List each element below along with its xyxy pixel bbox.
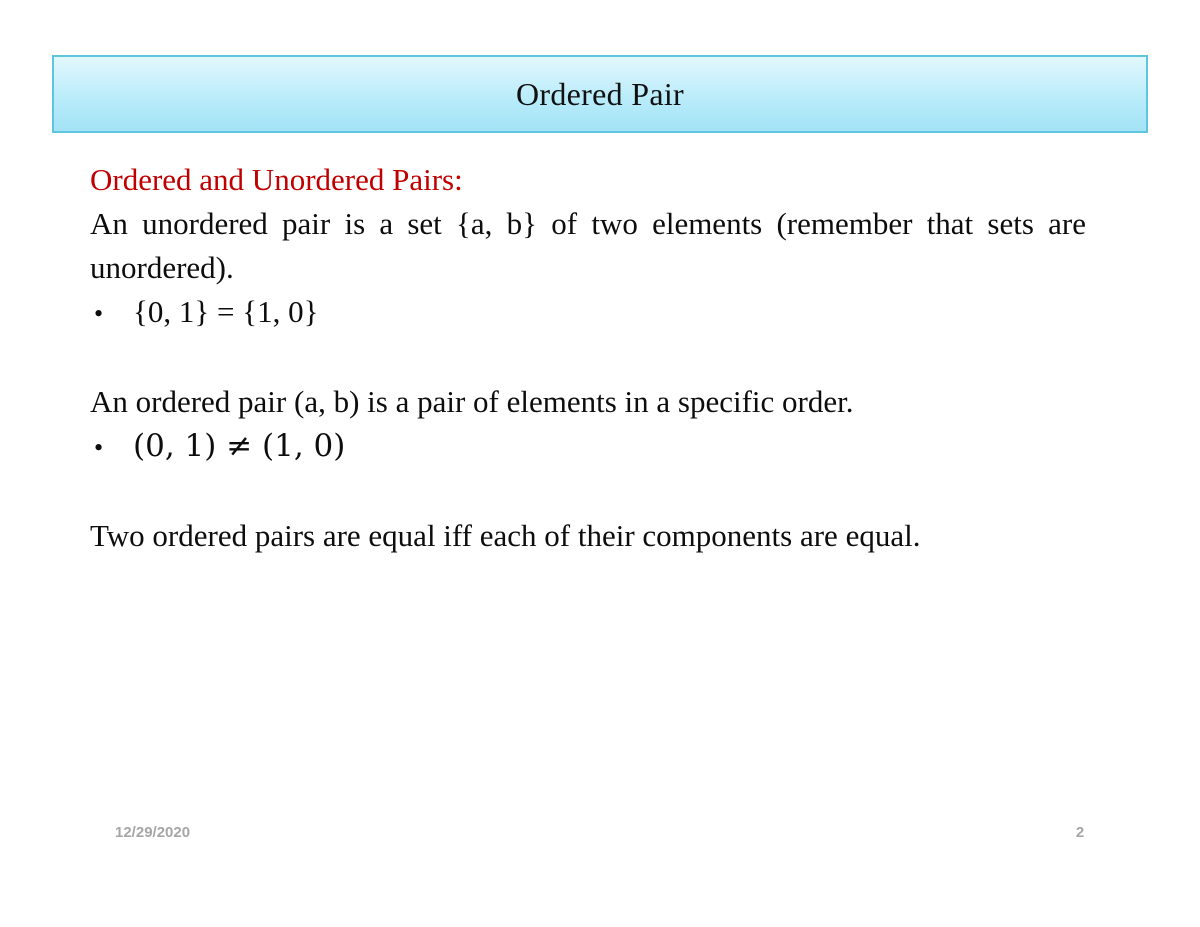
paragraph-ordered-pair: An ordered pair (a, b) is a pair of elem… bbox=[90, 380, 1086, 424]
spacer-2 bbox=[90, 470, 1086, 514]
list-item: • {0, 1} = {1, 0} bbox=[90, 290, 1086, 336]
bullet-point-icon: • bbox=[90, 292, 133, 336]
slide-canvas: Ordered Pair Ordered and Unordered Pairs… bbox=[0, 0, 1200, 927]
slide-title-bar: Ordered Pair bbox=[52, 55, 1148, 133]
footer-page-number: 2 bbox=[1060, 824, 1100, 841]
paragraph-equality: Two ordered pairs are equal iff each of … bbox=[90, 514, 1086, 558]
footer-date: 12/29/2020 bbox=[115, 824, 190, 841]
slide-content-body: Ordered and Unordered Pairs: An unordere… bbox=[90, 158, 1086, 558]
list-item: • (0, 1) ≠ (1, 0) bbox=[90, 424, 1086, 470]
bullet-point-icon: • bbox=[90, 426, 133, 470]
list-item-label: (0, 1) ≠ (1, 0) bbox=[133, 424, 345, 468]
content-heading: Ordered and Unordered Pairs: bbox=[90, 158, 1086, 202]
list-item-label: {0, 1} = {1, 0} bbox=[133, 290, 319, 334]
page-title: Ordered Pair bbox=[516, 78, 684, 110]
spacer-1 bbox=[90, 336, 1086, 380]
paragraph-unordered-pair: An unordered pair is a set {a, b} of two… bbox=[90, 202, 1086, 290]
